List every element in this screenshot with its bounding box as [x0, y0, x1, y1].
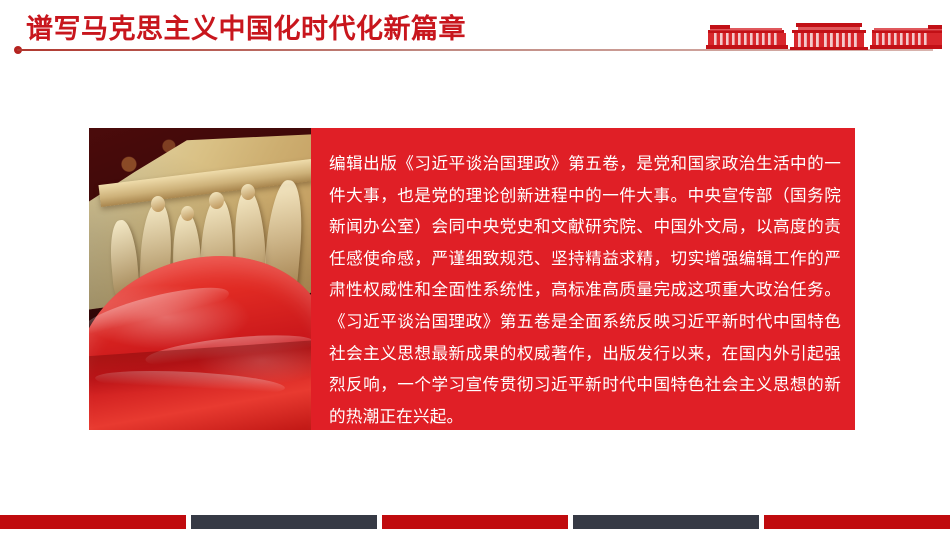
bar-segment-4 [573, 515, 759, 529]
great-hall-of-the-people-icon [692, 21, 942, 51]
monument-relief-photo [89, 128, 311, 430]
slide-root: 谱写马克思主义中国化时代化新篇章 [0, 0, 950, 535]
content-block: 编辑出版《习近平谈治国理政》第五卷，是党和国家政治生活中的一件大事，也是党的理论… [89, 128, 855, 430]
relief-figure-head [241, 184, 255, 200]
relief-figure-head [209, 192, 224, 209]
red-text-panel: 编辑出版《习近平谈治国理政》第五卷，是党和国家政治生活中的一件大事，也是党的理论… [311, 128, 855, 430]
slide-header: 谱写马克思主义中国化时代化新篇章 [0, 0, 950, 62]
bar-segment-5 [764, 515, 950, 529]
bottom-decoration-bar [0, 515, 950, 529]
page-title: 谱写马克思主义中国化时代化新篇章 [26, 12, 466, 46]
relief-figure-head [151, 196, 165, 212]
relief-figure-head [181, 206, 194, 221]
bar-segment-1 [0, 515, 186, 529]
bar-segment-2 [191, 515, 377, 529]
bar-segment-3 [382, 515, 568, 529]
body-paragraph: 编辑出版《习近平谈治国理政》第五卷，是党和国家政治生活中的一件大事，也是党的理论… [329, 148, 841, 432]
